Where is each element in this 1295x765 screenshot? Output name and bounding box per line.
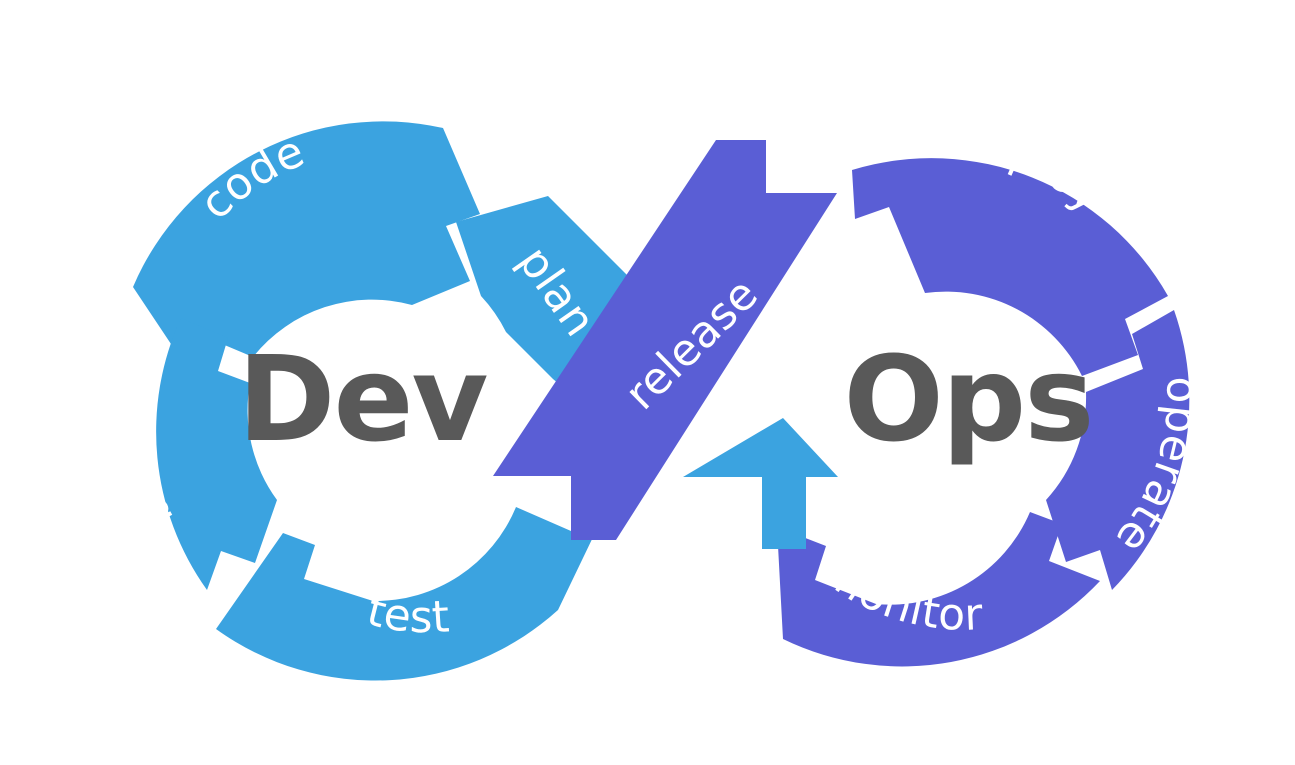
dev-core-word: Dev [238,330,488,468]
dev-label-test: test [362,585,451,644]
dev-segment-test[interactable] [216,497,607,681]
ops-core-word: Ops [843,330,1092,468]
devops-infinity-svg: code test build plan deploy monit [0,0,1295,765]
feedback-arrow[interactable] [683,418,838,549]
feedback-bridge [683,418,838,549]
devops-diagram: code test build plan deploy monit [0,0,1295,765]
